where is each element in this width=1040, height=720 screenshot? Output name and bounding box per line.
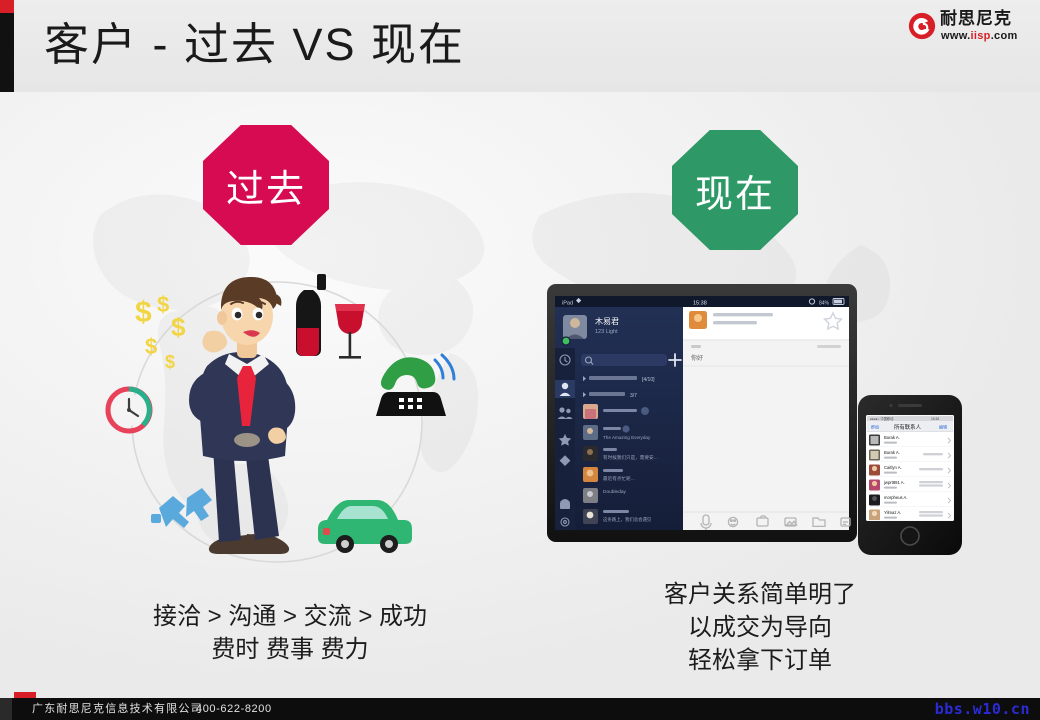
svg-text:[4/10]: [4/10]: [642, 377, 655, 383]
caption-now: 客户关系简单明了 以成交为导向 轻松拿下订单: [560, 578, 960, 677]
svg-text:这条路上，我们总会遇见: 这条路上，我们总会遇见: [603, 516, 652, 523]
svg-text:所有联系人: 所有联系人: [894, 423, 922, 431]
svg-text:84%: 84%: [819, 301, 830, 307]
svg-text:jwprt891 A.: jwprt891 A.: [883, 480, 905, 485]
company-logo: 耐思尼克 www.iisp.com: [908, 8, 1026, 50]
svg-text:3/7: 3/7: [630, 393, 637, 399]
device-mockups: iPad 15:38 84% 木易君 123 Light: [545, 282, 970, 557]
swirl-e-logo-icon: [908, 12, 936, 40]
svg-text:有时候我们只是，需要安...: 有时候我们只是，需要安...: [603, 454, 658, 461]
svg-text:iPad: iPad: [562, 301, 573, 307]
dollar-signs-icon: $ $ $ $ $: [135, 292, 186, 372]
telephone-icon: [376, 355, 454, 416]
svg-text:$: $: [157, 292, 169, 317]
green-car-icon: [318, 500, 412, 553]
slide-header: 客户 - 过去 VS 现在 耐思尼克 www.iisp.com: [0, 0, 1040, 92]
header-red-accent-square: [0, 0, 14, 13]
svg-text:morpheus A.: morpheus A.: [884, 495, 908, 500]
svg-text:Burak A.: Burak A.: [884, 450, 900, 455]
svg-text:Doubleday: Doubleday: [603, 489, 627, 495]
svg-text:15:38: 15:38: [693, 301, 707, 307]
badge-past-label: 过去: [226, 158, 306, 213]
svg-text:Caitlyn A.: Caitlyn A.: [884, 465, 902, 470]
header-black-accent-bar: [0, 0, 14, 92]
svg-text:$: $: [171, 312, 186, 342]
logo-url: www.iisp.com: [941, 30, 1018, 43]
caption-past-line-1: 接洽 > 沟通 > 交流 > 成功: [60, 600, 520, 633]
svg-text:木易君: 木易君: [595, 316, 619, 326]
forum-watermark: bbs.w10.cn: [935, 700, 1030, 718]
svg-text:Yilmaz A.: Yilmaz A.: [884, 510, 901, 515]
svg-text:你好: 你好: [691, 354, 703, 362]
svg-text:●●●●○ 中国移动: ●●●●○ 中国移动: [870, 416, 893, 421]
caption-past: 接洽 > 沟通 > 交流 > 成功 费时 费事 费力: [60, 600, 520, 666]
svg-text:$: $: [145, 334, 157, 359]
svg-text:编辑: 编辑: [939, 424, 947, 430]
wine-glass-icon: [335, 304, 365, 359]
footer-company-name: 广东耐思尼克信息技术有限公司: [32, 702, 203, 716]
svg-text:15:38: 15:38: [931, 417, 939, 421]
badge-past: 过去: [203, 125, 329, 245]
svg-text:$: $: [165, 352, 175, 372]
badge-now: 现在: [672, 130, 798, 250]
svg-text:The Amazing Everyday: The Amazing Everyday: [603, 435, 651, 440]
caption-now-line-1: 客户关系简单明了: [560, 578, 960, 611]
clock-icon: [108, 389, 150, 431]
ipad-messaging-app: iPad 15:38 84% 木易君 123 Light: [547, 284, 857, 542]
caption-past-line-2: 费时 费事 费力: [60, 633, 520, 666]
svg-text:Burak A.: Burak A.: [884, 435, 900, 440]
svg-text:群组: 群组: [871, 424, 879, 430]
logo-url-suffix: .com: [991, 30, 1018, 42]
logo-url-prefix: www.: [941, 30, 971, 42]
iphone-contacts-app: ●●●●○ 中国移动 15:38 群组 所有联系人 编辑 Burak A.: [858, 395, 962, 555]
svg-text:123 Light: 123 Light: [595, 329, 618, 335]
confused-businessman-illustration: $ $ $ $ $: [95, 270, 465, 570]
slide-canvas: 客户 - 过去 VS 现在 耐思尼克 www.iisp.com 过去 现在: [0, 0, 1040, 720]
logo-url-brand: iisp: [971, 30, 991, 42]
svg-text:最近有点忙呢...: 最近有点忙呢...: [603, 475, 635, 482]
slide-footer: 广东耐思尼克信息技术有限公司 400-622-8200 bbs.w10.cn: [0, 698, 1040, 720]
handshake-icon: [151, 488, 212, 528]
caption-now-line-2: 以成交为导向: [560, 611, 960, 644]
page-title: 客户 - 过去 VS 现在: [44, 14, 465, 76]
footer-dark-accent-square: [0, 698, 12, 720]
svg-text:$: $: [135, 296, 152, 329]
logo-company-name: 耐思尼克: [940, 9, 1012, 29]
footer-phone-number: 400-622-8200: [196, 702, 272, 716]
caption-now-line-3: 轻松拿下订单: [560, 644, 960, 677]
badge-now-label: 现在: [695, 163, 775, 218]
